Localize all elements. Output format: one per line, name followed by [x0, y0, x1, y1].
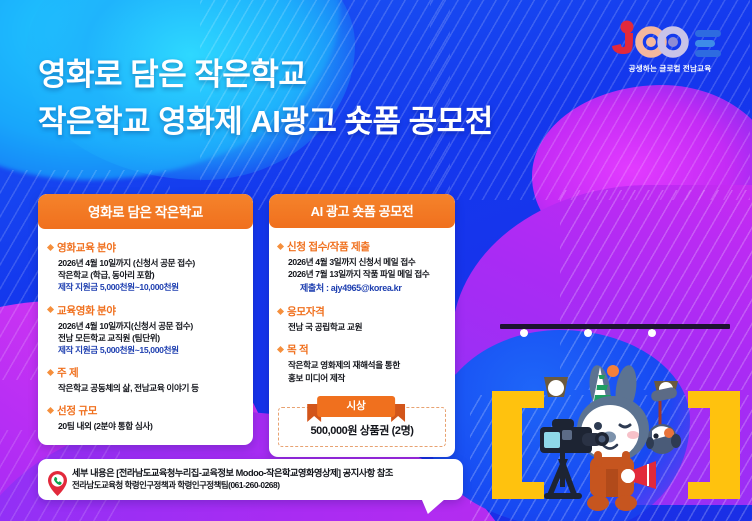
info-group-title-text: 선정 규모 [57, 403, 97, 418]
info-group-title-text: 신청 접수/작품 제출 [287, 239, 370, 254]
award-ribbon: 시상 [307, 396, 405, 431]
diamond-bullet-icon [47, 243, 54, 250]
info-line: 2026년 4월 10일까지(신청서 공문 접수) [48, 320, 242, 332]
info-line: 홍보 미디어 제작 [278, 372, 446, 384]
diamond-bullet-icon [277, 308, 284, 315]
bunny-mascot-illustration [538, 363, 703, 513]
info-group-title-text: 목 적 [287, 342, 308, 357]
card-film-small-school: 영화로 담은 작은학교 영화교육 분야 2026년 4월 10일까지 (신청서 … [38, 194, 253, 445]
info-line: 전남 모든학교 교직원 (팀단위) [48, 332, 242, 344]
contact-line-1: 세부 내용은 [전라남도교육청누리집-교육정보 Modoo-작은학교영화영상제]… [72, 467, 451, 479]
info-group: 목 적 작은학교 영화제의 재해석을 통한 홍보 미디어 제작 [278, 342, 446, 383]
light-bulb-icon [520, 329, 528, 337]
info-line: 작은학교 (학급, 동아리 포함) [48, 269, 242, 281]
info-line: 제작 지원금 5,000천원~10,000천원 [48, 281, 242, 293]
info-group-title: 선정 규모 [48, 403, 242, 418]
info-group-title-text: 응모자격 [287, 304, 324, 319]
diamond-bullet-icon [47, 407, 54, 414]
info-group-title: 교육영화 분야 [48, 303, 242, 318]
submission-email-line: 제출처 : ajy4965@korea.kr [278, 282, 446, 295]
info-group-title-text: 교육영화 분야 [57, 303, 116, 318]
jeonnam-education-logo-icon [611, 20, 729, 60]
logo-block: 공생하는 글로컬 전남교육 [606, 20, 734, 74]
diamond-bullet-icon [277, 242, 284, 249]
magenta-blob-top-right [532, 85, 752, 275]
award-block: 시상 500,000원 상품권 (2명) [278, 396, 446, 447]
headline-line-1: 영화로 담은 작은학교 [38, 58, 493, 93]
diamond-bullet-icon [47, 306, 54, 313]
light-bulb-icon [648, 329, 656, 337]
yellow-bracket-left [492, 391, 522, 499]
info-line: 작은학교 영화제의 재해석을 통한 [278, 359, 446, 371]
info-group-title: 응모자격 [278, 304, 446, 319]
info-cards-container: 영화로 담은 작은학교 영화교육 분야 2026년 4월 10일까지 (신청서 … [38, 194, 455, 457]
contact-line-2: 전라남도교육청 학령인구정책과 학령인구정책팀(061-260-0268) [72, 479, 451, 491]
info-group-title: 영화교육 분야 [48, 240, 242, 255]
info-group: 영화교육 분야 2026년 4월 10일까지 (신청서 공문 접수) 작은학교 … [48, 240, 242, 294]
poster-root: 공생하는 글로컬 전남교육 영화로 담은 작은학교 작은학교 영화제 AI광고 … [0, 0, 752, 521]
mascot-scene [480, 346, 752, 521]
diamond-bullet-icon [277, 346, 284, 353]
orange-ball-icon [607, 365, 619, 377]
location-phone-pin-icon [48, 471, 67, 496]
info-group: 교육영화 분야 2026년 4월 10일까지(신청서 공문 접수) 전남 모든학… [48, 303, 242, 357]
card-body-ai-ad-shortform: 신청 접수/작품 제출 2026년 4월 3일까지 신청서 메일 접수 2026… [269, 228, 455, 457]
award-ribbon-label: 시상 [307, 396, 405, 417]
info-group: 신청 접수/작품 제출 2026년 4월 3일까지 신청서 메일 접수 2026… [278, 239, 446, 295]
headline-line-2: 작은학교 영화제 AI광고 숏폼 공모전 [38, 105, 493, 140]
info-group: 응모자격 전남 국 공립학교 교원 [278, 304, 446, 333]
info-line: 전남 국 공립학교 교원 [278, 321, 446, 333]
poster-headline: 영화로 담은 작은학교 작은학교 영화제 AI광고 숏폼 공모전 [38, 58, 493, 139]
info-group-title-text: 주 제 [57, 365, 78, 380]
card-title-ai-ad-shortform: AI 광고 숏폼 공모전 [269, 194, 455, 228]
info-group: 주 제 작은학교 공동체의 삶, 전남교육 이야기 등 [48, 365, 242, 394]
light-bulb-icon [584, 329, 592, 337]
card-body-film-small-school: 영화교육 분야 2026년 4월 10일까지 (신청서 공문 접수) 작은학교 … [38, 229, 253, 445]
card-title-film-small-school: 영화로 담은 작은학교 [38, 194, 253, 229]
contact-info-bar: 세부 내용은 [전라남도교육청누리집-교육정보 Modoo-작은학교영화영상제]… [38, 459, 463, 500]
info-group-title: 신청 접수/작품 제출 [278, 239, 446, 254]
info-group-title: 주 제 [48, 365, 242, 380]
info-line: 2026년 4월 3일까지 신청서 메일 접수 [278, 256, 446, 268]
info-group-title: 목 적 [278, 342, 446, 357]
yellow-bracket-right [710, 391, 740, 499]
info-line: 작은학교 공동체의 삶, 전남교육 이야기 등 [48, 382, 242, 394]
info-group: 선정 규모 20팀 내외 (2분야 통합 심사) [48, 403, 242, 432]
info-line: 2026년 7월 13일까지 작품 파일 메일 접수 [278, 268, 446, 280]
diamond-bullet-icon [47, 369, 54, 376]
boom-microphone-icon [646, 381, 681, 454]
info-line: 20팀 내외 (2분야 통합 심사) [48, 420, 242, 432]
info-line: 2026년 4월 10일까지 (신청서 공문 접수) [48, 257, 242, 269]
logo-tagline: 공생하는 글로컬 전남교육 [606, 63, 734, 74]
string-lights-bar [500, 324, 730, 329]
card-ai-ad-shortform: AI 광고 숏폼 공모전 신청 접수/작품 제출 2026년 4월 3일까지 신… [269, 194, 455, 457]
studio-light-icon [544, 377, 568, 397]
info-group-title-text: 영화교육 분야 [57, 240, 116, 255]
info-line: 제작 지원금 5,000천원~15,000천원 [48, 344, 242, 356]
